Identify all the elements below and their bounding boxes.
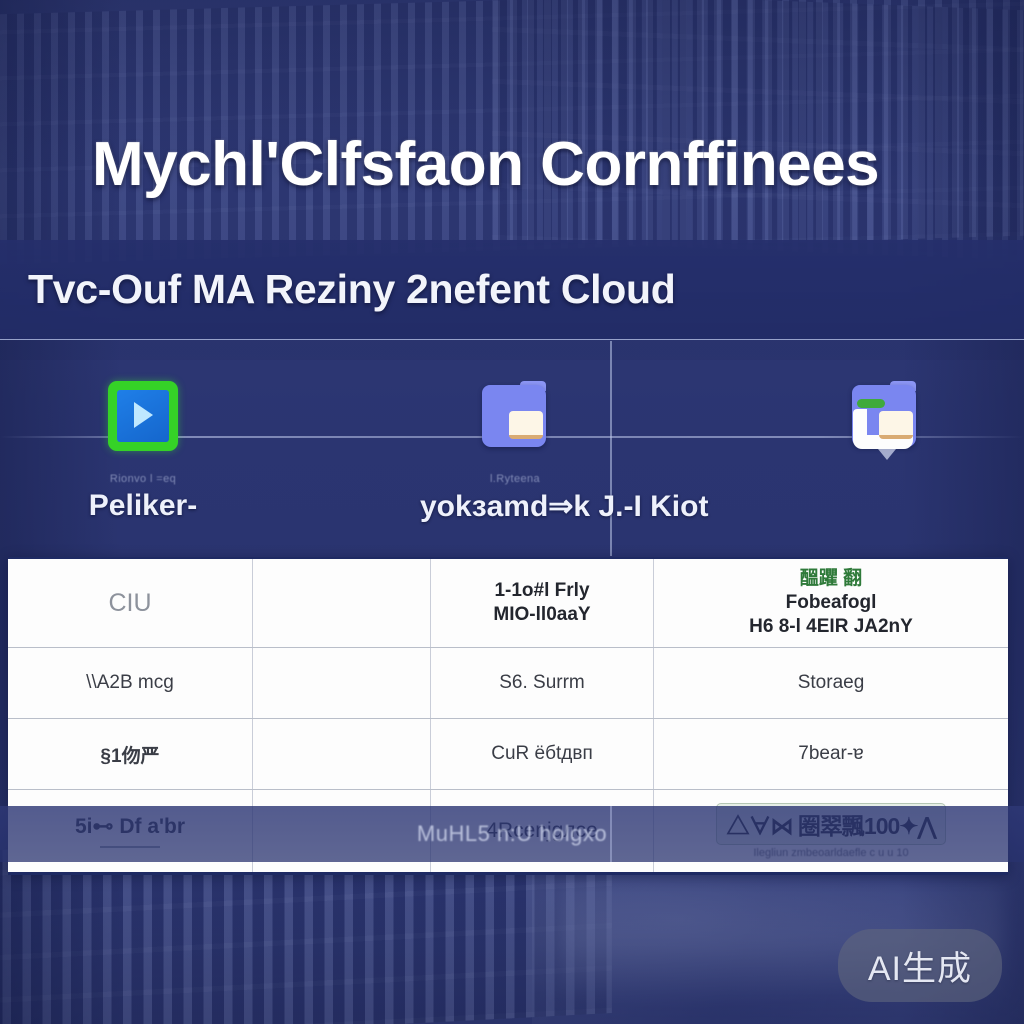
table-row: CIU 1-1o#l Frly MIO-ll0aaY 醞躣 翻 Fobeafog… bbox=[8, 559, 1008, 648]
folder-card-icon-inner-rect bbox=[509, 411, 543, 439]
icon-item-3-small-caption bbox=[790, 473, 980, 487]
folder-card-icon-group bbox=[480, 381, 550, 451]
table-cell-r1c1: CIU bbox=[8, 559, 253, 648]
table-cell-r1c3-line2: MIO-ll0aaY bbox=[437, 603, 647, 627]
ai-generated-watermark: AI生成 bbox=[838, 929, 1002, 1002]
table-cell-r2c2 bbox=[253, 648, 431, 719]
table-cell-r1c3: 1-1o#l Frly MIO-ll0aaY bbox=[431, 559, 654, 648]
table-row: §1伆严 CuR ëбtдвп 7bear-ɐ bbox=[8, 719, 1008, 790]
icon-item-2-small-caption: l.Ryteena bbox=[420, 473, 610, 487]
icon-item-1[interactable]: Rionvo l =eq Peliker- bbox=[48, 381, 238, 523]
table-cell-r2c4: Storaeg bbox=[654, 648, 1009, 719]
icon-item-2-label: yokзamd⇒k J.-I Kiot bbox=[420, 489, 610, 524]
icon-row: Rionvo l =eq Peliker- l.Ryteena yokзamd⇒… bbox=[0, 341, 1024, 556]
footer-strip: MuHL5 n:U holgxo bbox=[0, 806, 1024, 862]
table-cell-r3c1: §1伆严 bbox=[8, 719, 253, 790]
icon-item-2[interactable]: l.Ryteena yokзamd⇒k J.-I Kiot bbox=[420, 381, 610, 524]
play-square-icon-triangle bbox=[134, 402, 153, 428]
icon-item-1-small-caption: Rionvo l =eq bbox=[48, 473, 238, 487]
table-cell-r3c4: 7bear-ɐ bbox=[654, 719, 1009, 790]
table-cell-r1c4-accent: 醞躣 翻 bbox=[660, 567, 1002, 591]
icon-item-3[interactable] bbox=[790, 381, 980, 489]
icon-item-1-label: Peliker- bbox=[48, 489, 238, 523]
play-square-icon[interactable] bbox=[108, 381, 178, 451]
footer-divider-line bbox=[610, 806, 612, 862]
table-cell-r2c3: S6. Surrm bbox=[431, 648, 654, 719]
folder-card-green-accent-icon-group bbox=[850, 381, 920, 451]
subtitle-band: Tvc-Ouf MA Reziny 2nefent Cloud bbox=[0, 240, 1024, 340]
table-row: \\A2B mcg S6. Surrm Storaeg bbox=[8, 648, 1008, 719]
page-subtitle: Tvc-Ouf MA Reziny 2nefent Cloud bbox=[28, 266, 675, 313]
table-cell-r1c2 bbox=[253, 559, 431, 648]
folder-card-green-accent-icon-pointer bbox=[878, 449, 896, 460]
table-cell-r3c2 bbox=[253, 719, 431, 790]
folder-card-green-accent-icon-inner-rect bbox=[879, 411, 913, 439]
table-cell-r2c1: \\A2B mcg bbox=[8, 648, 253, 719]
title-band: Mychl'Clfsfaon Cornffinees bbox=[0, 95, 1024, 235]
table-cell-r1c4-line2: H6 8-l 4EIR JA2nY bbox=[660, 615, 1002, 639]
table-cell-r1c4: 醞躣 翻 Fobeafogl H6 8-l 4EIR JA2nY bbox=[654, 559, 1009, 648]
icon-row-divider-line bbox=[610, 341, 612, 556]
folder-card-green-accent-icon-green-bar bbox=[857, 399, 885, 408]
table-cell-r1c4-line1: 醞躣 翻 Fobeafogl bbox=[660, 567, 1002, 615]
infographic-canvas: Mychl'Clfsfaon Cornffinees Tvc-Ouf MA Re… bbox=[0, 0, 1024, 1024]
page-title: Mychl'Clfsfaon Cornffinees bbox=[92, 134, 879, 196]
table-cell-r3c3: CuR ëбtдвп bbox=[431, 719, 654, 790]
folder-card-green-accent-icon[interactable] bbox=[850, 381, 920, 451]
folder-card-icon[interactable] bbox=[480, 381, 550, 451]
footer-caption: MuHL5 n:U holgxo bbox=[417, 821, 607, 847]
table-cell-r1c3-line1: 1-1o#l Frly bbox=[437, 579, 647, 603]
table-cell-r1c4-line1-text: Fobeafogl bbox=[660, 591, 1002, 615]
